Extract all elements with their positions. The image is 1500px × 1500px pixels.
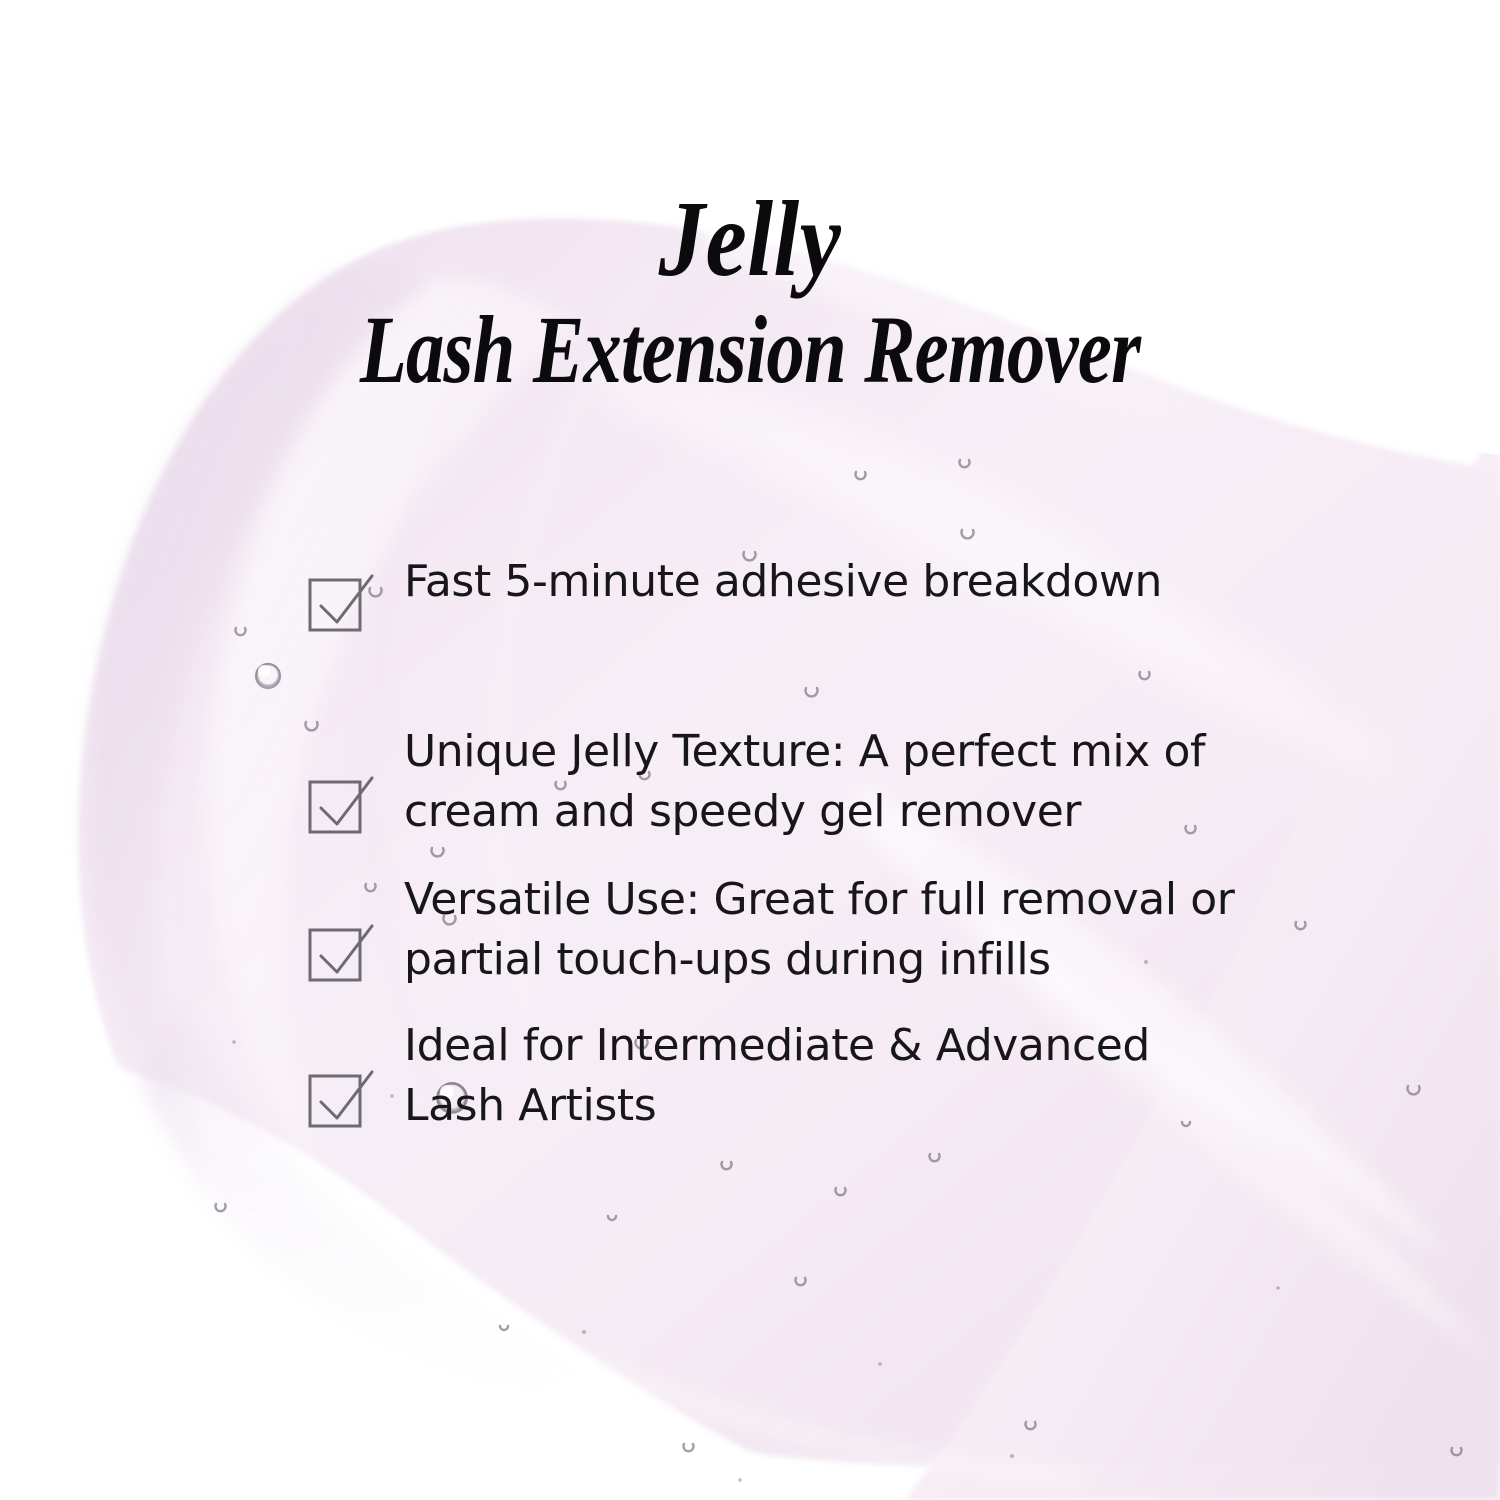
checkbox-checked-icon [306, 770, 378, 840]
feature-label: Unique Jelly Texture: A perfect mix of c… [404, 722, 1306, 842]
checkbox-checked-icon [306, 918, 378, 988]
product-feature-card: Jelly Lash Extension Remover Fast 5-minu… [0, 0, 1500, 1500]
checkbox-checked-icon [306, 568, 378, 638]
feature-item: Ideal for Intermediate & Advanced Lash A… [306, 1016, 1306, 1136]
feature-label: Fast 5-minute adhesive breakdown [404, 552, 1306, 612]
feature-item: Unique Jelly Texture: A perfect mix of c… [306, 722, 1306, 842]
feature-item: Fast 5-minute adhesive breakdown [306, 552, 1306, 638]
title-main-line: Lash Extension Remover [150, 302, 1350, 398]
feature-item: Versatile Use: Great for full removal or… [306, 870, 1306, 990]
title-script-word: Jelly [105, 186, 1395, 294]
feature-label: Ideal for Intermediate & Advanced Lash A… [404, 1016, 1306, 1136]
product-title: Jelly Lash Extension Remover [0, 186, 1500, 398]
feature-label: Versatile Use: Great for full removal or… [404, 870, 1306, 990]
feature-list: Fast 5-minute adhesive breakdown Unique … [306, 552, 1306, 1136]
checkbox-checked-icon [306, 1064, 378, 1134]
